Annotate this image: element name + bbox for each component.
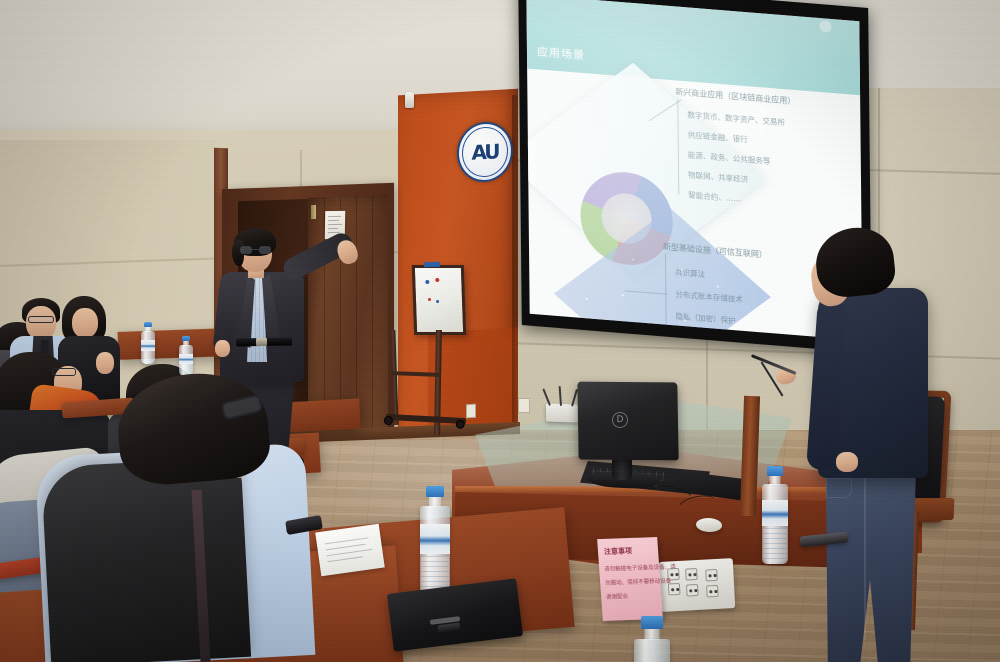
water-bottle-audience-rear-2 <box>178 336 194 376</box>
ceiling-sensor-icon <box>405 92 414 108</box>
water-bottle-audience-rear <box>140 322 156 364</box>
wall-socket[interactable] <box>466 404 476 419</box>
presenter2-jeans-seam <box>864 470 866 640</box>
slide-body: 新兴商业应用（区块链商业应用） 数字货币、数字资产、交易所 供应链金融、银行 能… <box>527 68 863 340</box>
attendee-glasses-icon <box>28 316 54 323</box>
water-bottle-front-table <box>418 486 452 598</box>
attendee-hand <box>96 352 114 374</box>
slide-heading-top: 新兴商业应用（区块链商业应用） <box>675 86 795 107</box>
presenter2-hand-in-pocket <box>836 452 858 472</box>
notice-sign-line-3: 谢谢配合 <box>606 592 629 601</box>
water-bottle-right-desk <box>760 466 790 564</box>
institution-logo: AU <box>457 121 513 184</box>
pink-warning-sign: 注意事项 请勿触碰电子设备及设备、请 勿搬动、保持不要移动设备 谢谢配合 <box>597 537 663 621</box>
presenter1-belt-buckle <box>256 338 267 346</box>
slide-bullet-bottom-1: 共识算法 <box>675 266 705 279</box>
dell-monitor[interactable] <box>577 382 678 461</box>
water-bottle-presenter-desk <box>632 616 672 662</box>
presenter2-pocket <box>826 478 852 498</box>
logo-mark: AU <box>471 139 498 164</box>
slide-corner-logo-icon <box>819 20 831 33</box>
door-hinge-icon <box>311 205 316 219</box>
presenter1-left-hand <box>215 340 230 357</box>
open-notebook[interactable] <box>315 524 385 576</box>
presenter1-glasses-icon <box>240 246 271 254</box>
flipchart-clip <box>424 262 440 268</box>
wall-socket-right[interactable] <box>518 398 530 413</box>
whiteboard-flipchart[interactable] <box>412 265 466 335</box>
audience-table-rear-left <box>118 328 229 360</box>
scarf-woman-glasses-icon <box>52 368 76 376</box>
foreground-vest <box>41 457 251 662</box>
notice-sign-title: 注意事项 <box>604 546 633 557</box>
wifi-router <box>546 403 578 422</box>
conference-room-photo: AU 应用场景 <box>0 0 1000 662</box>
